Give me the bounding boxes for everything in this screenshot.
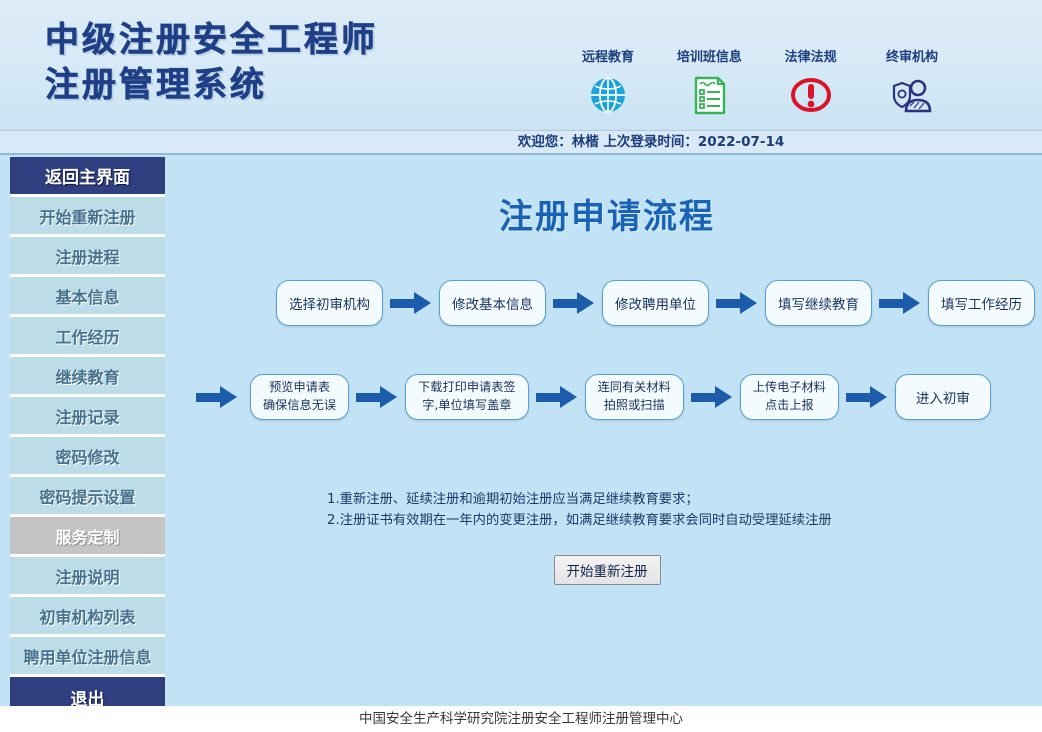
header-nav-item-final-review-agency[interactable]: 终审机构 xyxy=(864,46,960,117)
flow-row-2: 预览申请表 确保信息无误 下载打印申请表签 字,单位填写盖章 连同有关材料 拍照… xyxy=(172,369,1042,425)
flow-step-select-review-agency[interactable]: 选择初审机构 xyxy=(276,280,383,326)
header-nav-item-training-info[interactable]: 培训班信息 xyxy=(661,46,757,117)
flow-step-label-line1: 下载打印申请表签 xyxy=(418,379,516,397)
flow-arrow-icon xyxy=(196,385,238,409)
registration-flow-diagram: 选择初审机构 修改基本信息 修改聘用单位 填写继续教育 xyxy=(172,275,1042,463)
flow-step-label-line2: 确保信息无误 xyxy=(263,397,336,415)
flow-step-label: 修改聘用单位 xyxy=(615,293,696,313)
flow-step-label: 进入初审 xyxy=(916,387,970,407)
main-content: 注册申请流程 选择初审机构 修改基本信息 修改聘用单位 xyxy=(172,157,1042,708)
flow-step-label: 填写继续教育 xyxy=(778,293,859,313)
header-nav: 远程教育 培训班信息 xyxy=(560,46,960,128)
flow-step-label-line1: 预览申请表 xyxy=(269,379,330,397)
app-root: 中级注册安全工程师 注册管理系统 远程教育 培训班信 xyxy=(0,0,1042,732)
flow-step-fill-continuing-education[interactable]: 填写继续教育 xyxy=(765,280,872,326)
flow-step-upload-materials[interactable]: 上传电子材料 点击上报 xyxy=(740,374,839,420)
header-nav-label: 终审机构 xyxy=(886,46,938,65)
sidebar-item-work-experience[interactable]: 工作经历 xyxy=(10,317,165,357)
page-title: 注册申请流程 xyxy=(172,189,1042,238)
header-nav-item-laws-regulations[interactable]: 法律法规 xyxy=(763,46,859,117)
flow-step-enter-first-review[interactable]: 进入初审 xyxy=(895,374,991,420)
welcome-bar: 欢迎您：林楷 上次登录时间：2022-07-14 xyxy=(0,131,1042,153)
note-line-2: 2.注册证书有效期在一年内的变更注册，如满足继续教育要求会同时自动受理延续注册 xyxy=(327,510,832,531)
sidebar-item-registration-records[interactable]: 注册记录 xyxy=(10,397,165,437)
notes-block: 1.重新注册、延续注册和逾期初始注册应当满足继续教育要求； 2.注册证书有效期在… xyxy=(327,489,832,532)
page-footer: 中国安全生产科学研究院注册安全工程师注册管理中心 xyxy=(0,706,1042,732)
header-nav-label: 法律法规 xyxy=(785,46,837,65)
note-line-1: 1.重新注册、延续注册和逾期初始注册应当满足继续教育要求； xyxy=(327,489,832,510)
flow-step-fill-work-experience[interactable]: 填写工作经历 xyxy=(928,280,1035,326)
brand-line-2: 注册管理系统 xyxy=(45,63,465,108)
flow-arrow-icon xyxy=(846,385,888,409)
sidebar-item-service-customization[interactable]: 服务定制 xyxy=(10,517,165,557)
sidebar-item-continuing-education[interactable]: 继续教育 xyxy=(10,357,165,397)
header-nav-label: 远程教育 xyxy=(582,46,634,65)
flow-step-label-line2: 字,单位填写盖章 xyxy=(422,397,511,415)
exclamation-circle-icon xyxy=(789,73,833,117)
header-nav-label: 培训班信息 xyxy=(677,46,742,65)
flow-step-label-line2: 点击上报 xyxy=(765,397,814,415)
sidebar-item-change-password[interactable]: 密码修改 xyxy=(10,437,165,477)
sidebar: 返回主界面 开始重新注册 注册进程 基本信息 工作经历 继续教育 注册记录 密码… xyxy=(10,157,165,708)
flow-arrow-icon xyxy=(553,291,595,315)
flow-step-edit-basic-info[interactable]: 修改基本信息 xyxy=(439,280,546,326)
footer-text: 中国安全生产科学研究院注册安全工程师注册管理中心 xyxy=(359,711,683,727)
sidebar-item-review-agency-list[interactable]: 初审机构列表 xyxy=(10,597,165,637)
sidebar-item-registration-progress[interactable]: 注册进程 xyxy=(10,237,165,277)
flow-step-label-line1: 上传电子材料 xyxy=(753,379,826,397)
checklist-document-icon xyxy=(687,73,731,117)
sidebar-item-basic-info[interactable]: 基本信息 xyxy=(10,277,165,317)
flow-arrow-icon xyxy=(390,291,432,315)
start-button-container: 开始重新注册 xyxy=(172,555,1042,585)
flow-step-print-and-sign[interactable]: 下载打印申请表签 字,单位填写盖章 xyxy=(405,374,529,420)
sidebar-item-return-main[interactable]: 返回主界面 xyxy=(10,157,165,197)
globe-icon xyxy=(586,73,630,117)
flow-arrow-icon xyxy=(356,385,398,409)
flow-arrow-icon xyxy=(879,291,921,315)
header-nav-item-remote-education[interactable]: 远程教育 xyxy=(560,46,656,117)
flow-arrow-icon xyxy=(536,385,578,409)
sidebar-item-registration-guide[interactable]: 注册说明 xyxy=(10,557,165,597)
sidebar-item-start-reregistration[interactable]: 开始重新注册 xyxy=(10,197,165,237)
flow-step-label: 修改基本信息 xyxy=(452,293,533,313)
flow-step-label-line2: 拍照或扫描 xyxy=(604,397,665,415)
start-reregistration-button[interactable]: 开始重新注册 xyxy=(554,555,661,585)
flow-step-edit-employer[interactable]: 修改聘用单位 xyxy=(602,280,709,326)
flow-step-preview-application[interactable]: 预览申请表 确保信息无误 xyxy=(250,374,349,420)
flow-step-label: 选择初审机构 xyxy=(289,293,370,313)
flow-row-1: 选择初审机构 修改基本信息 修改聘用单位 填写继续教育 xyxy=(172,275,1042,331)
flow-step-scan-materials[interactable]: 连同有关材料 拍照或扫描 xyxy=(585,374,684,420)
flow-step-label-line1: 连同有关材料 xyxy=(598,379,671,397)
site-brand: 中级注册安全工程师 注册管理系统 xyxy=(45,18,465,114)
flow-arrow-icon xyxy=(691,385,733,409)
brand-line-1: 中级注册安全工程师 xyxy=(45,18,465,63)
welcome-text: 欢迎您：林楷 上次登录时间：2022-07-14 xyxy=(258,131,785,153)
sidebar-item-password-hint[interactable]: 密码提示设置 xyxy=(10,477,165,517)
flow-arrow-icon xyxy=(716,291,758,315)
body-area: 返回主界面 开始重新注册 注册进程 基本信息 工作经历 继续教育 注册记录 密码… xyxy=(0,153,1042,706)
page-header: 中级注册安全工程师 注册管理系统 远程教育 培训班信 xyxy=(0,0,1042,131)
flow-step-label: 填写工作经历 xyxy=(941,293,1022,313)
shield-person-icon xyxy=(890,73,934,117)
sidebar-item-employer-reg-info[interactable]: 聘用单位注册信息 xyxy=(10,637,165,677)
